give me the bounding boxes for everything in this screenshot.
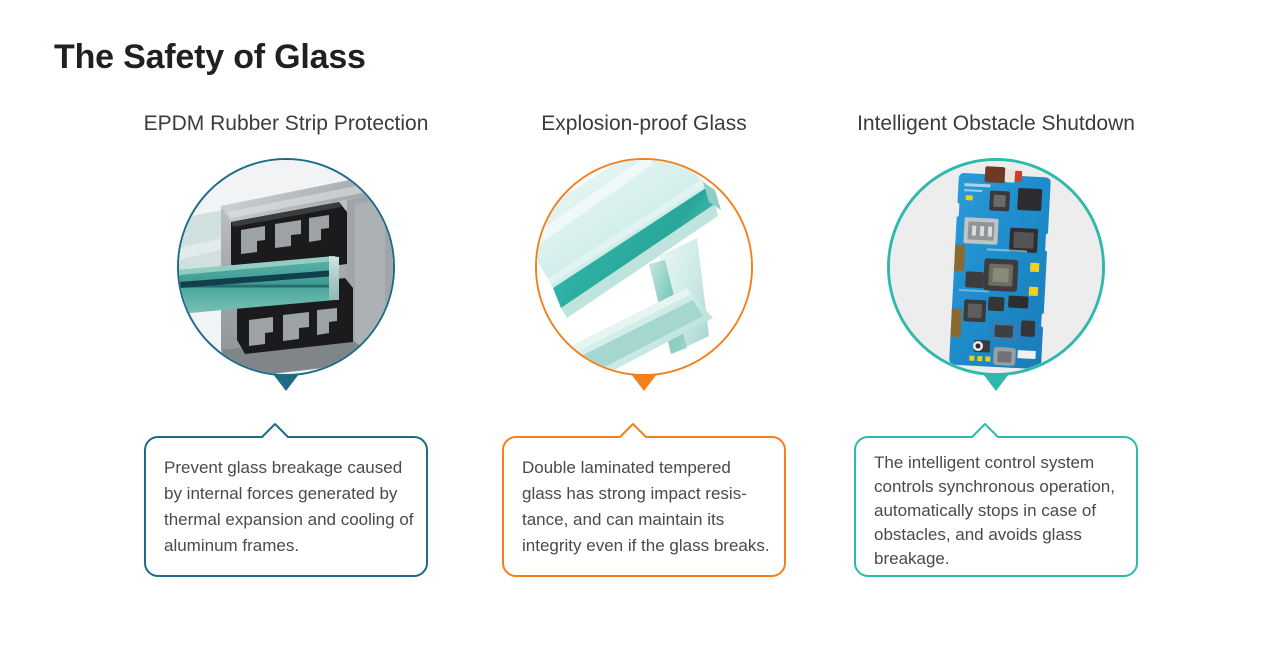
callout-box-3: The intelligent control system controls … (854, 436, 1138, 577)
column-heading-3: Intelligent Obstacle Shutdown (796, 112, 1196, 136)
callout-text-1: Prevent glass breakage caused by interna… (164, 455, 414, 559)
callout-text-3: The intelligent control system controls … (874, 451, 1124, 571)
callout-pointer-1 (273, 374, 299, 391)
column-heading-1: EPDM Rubber Strip Protection (86, 112, 486, 136)
feature-columns: EPDM Rubber Strip Protection (0, 0, 1280, 650)
frame-photo-graphic (179, 160, 395, 376)
feature-column-intelligent-obstacle-shutdown: Intelligent Obstacle Shutdown (796, 0, 1196, 650)
column-heading-2: Explosion-proof Glass (444, 112, 844, 136)
callout-pointer-3 (983, 374, 1009, 391)
aluminum-frame-epdm-rubber-glass-photo (177, 158, 395, 376)
circuit-board-controller-photo (887, 158, 1105, 376)
callout-box-2: Double laminated tempered glass has stro… (502, 436, 786, 577)
feature-image-wrap-3 (887, 158, 1105, 376)
callout-pointer-2 (631, 374, 657, 391)
glass-photo-graphic (537, 160, 753, 376)
laminated-tempered-glass-panes-photo (535, 158, 753, 376)
callout-box-1: Prevent glass breakage caused by interna… (144, 436, 428, 577)
feature-column-epdm-rubber-strip: EPDM Rubber Strip Protection (86, 0, 486, 650)
feature-image-wrap-2 (535, 158, 753, 376)
pcb-photo-graphic (890, 161, 1105, 376)
feature-image-wrap-1 (177, 158, 395, 376)
callout-text-2: Double laminated tempered glass has stro… (522, 455, 772, 559)
feature-column-explosion-proof-glass: Explosion-proof Glass (444, 0, 844, 650)
